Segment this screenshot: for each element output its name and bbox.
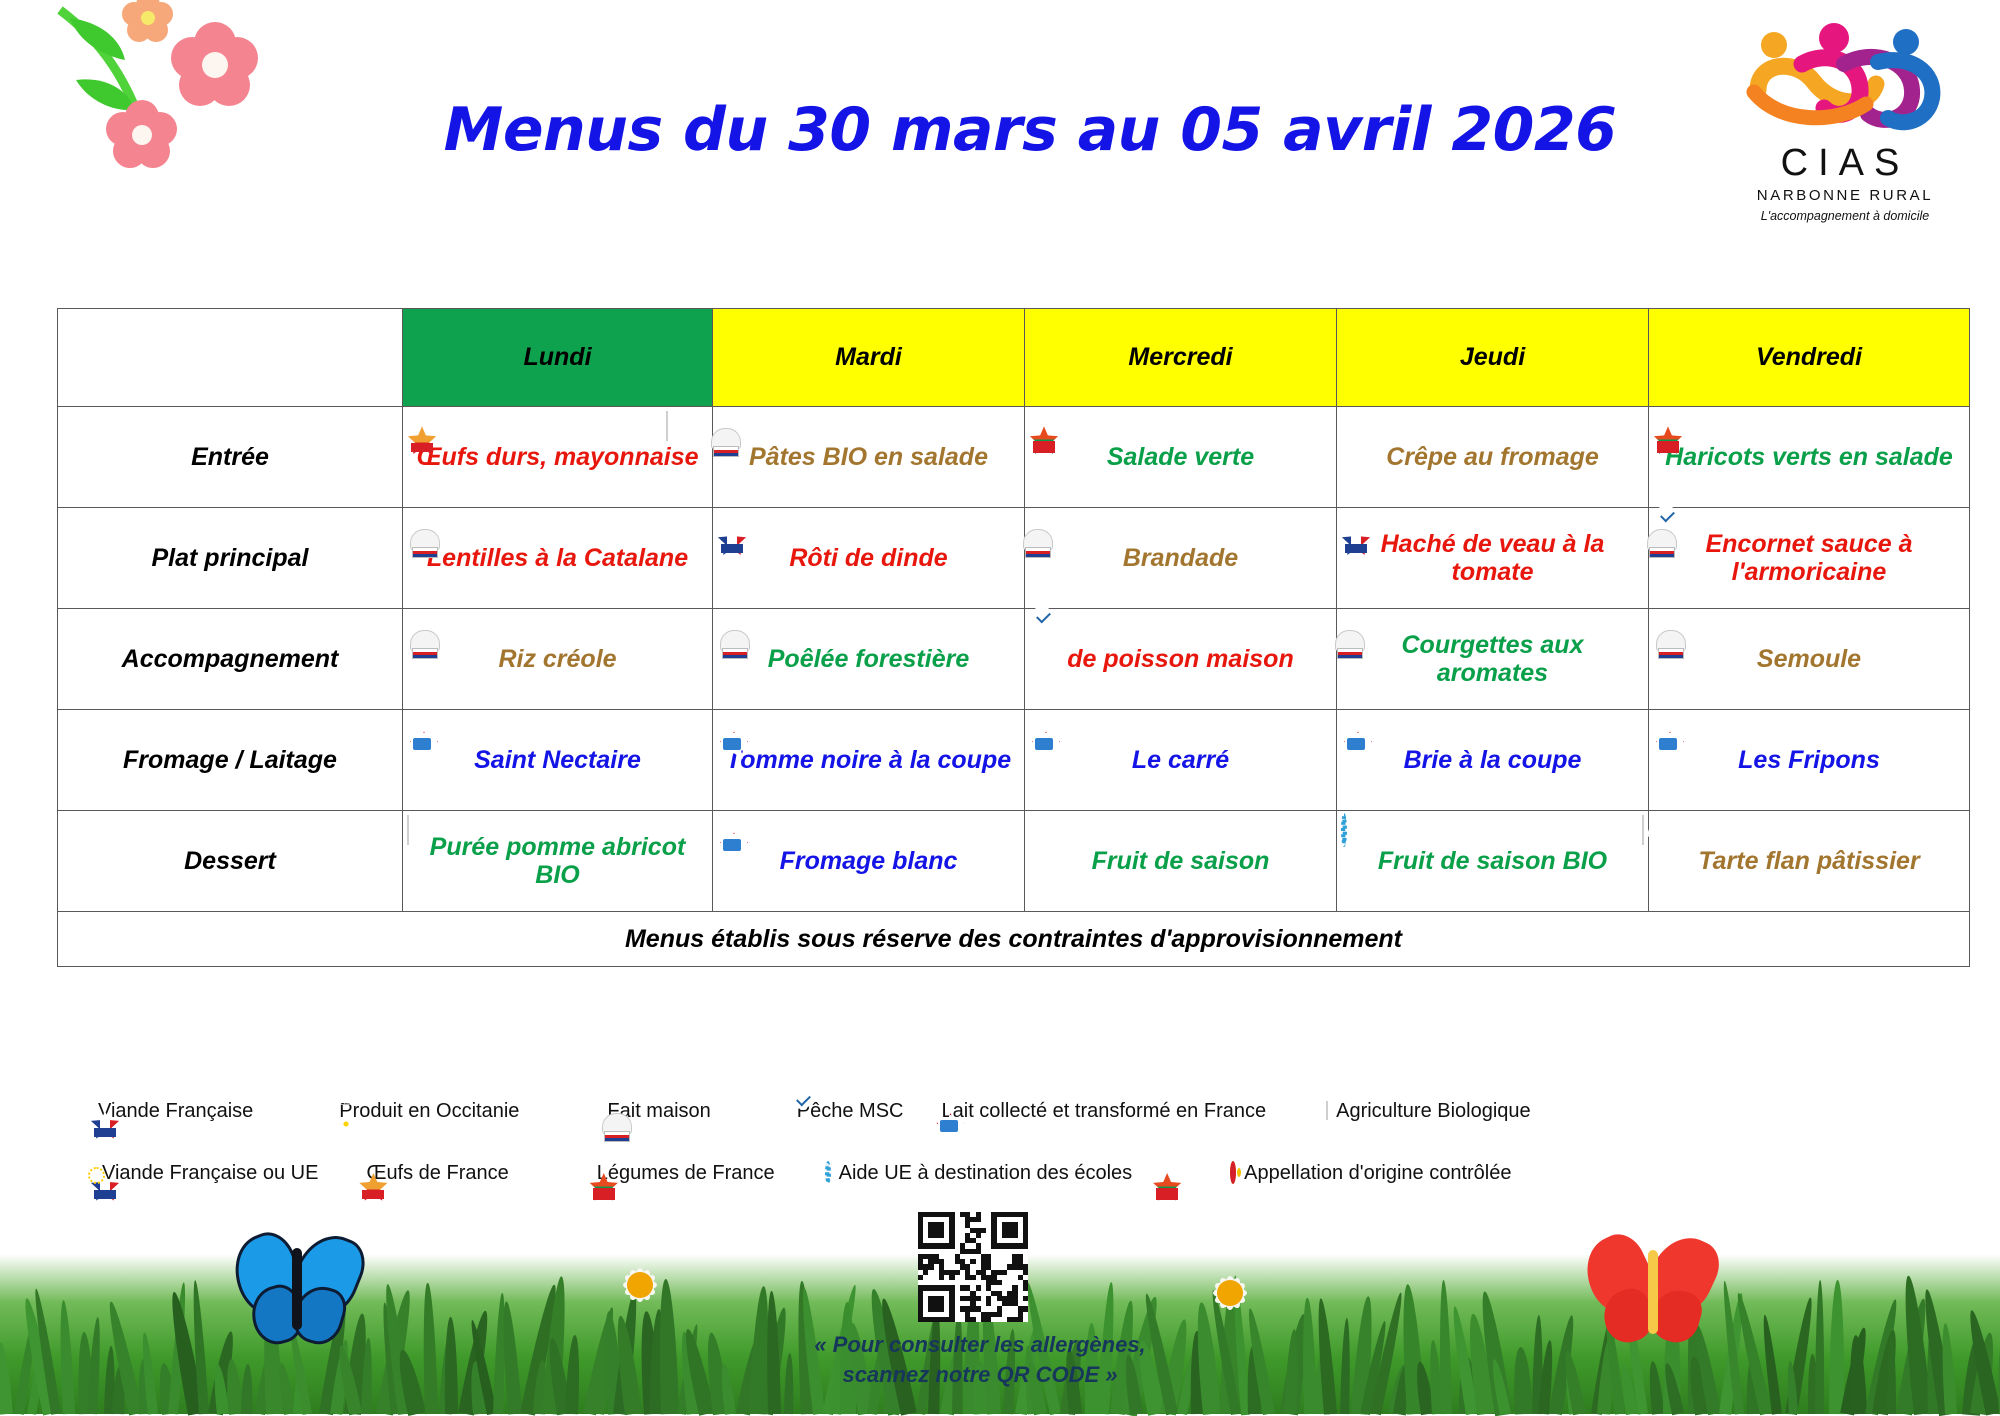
column-header-jeudi: Jeudi bbox=[1337, 309, 1649, 407]
legend-item-label: Produit en Occitanie bbox=[339, 1100, 519, 1123]
menu-cell: Haricots verts en salade bbox=[1649, 407, 1970, 508]
grass-blade bbox=[421, 1283, 437, 1414]
menu-item-text: Fruit de saison BIO bbox=[1337, 847, 1648, 875]
menu-cell: Brandade bbox=[1025, 508, 1337, 609]
legend-item: ABAgriculture Biologique bbox=[1326, 1100, 1531, 1123]
menu-cell: Fruit de saison BIOAB bbox=[1337, 811, 1649, 912]
legend-item-label: Aide UE à destination des écoles bbox=[839, 1162, 1133, 1185]
menu-item-text: Pâtes BIO en salade bbox=[713, 443, 1024, 471]
menu-cell: Encornet sauce à l'armoricaine bbox=[1649, 508, 1970, 609]
legend-item: Viande Française ou UE bbox=[90, 1162, 318, 1185]
legend-item: OccitanieProduit en Occitanie bbox=[331, 1100, 519, 1123]
menu-item-text: Salade verte bbox=[1025, 443, 1336, 471]
grass-blade bbox=[1647, 1361, 1664, 1415]
grass-blade bbox=[241, 1364, 254, 1414]
table-row: DessertPurée pomme abricot BIOABFromage … bbox=[58, 811, 1970, 912]
menu-cell: Tarte flan pâtissier bbox=[1649, 811, 1970, 912]
appellation-origine-controlee-icon bbox=[1230, 1164, 1236, 1182]
legend-item-label: Lait collecté et transformé en France bbox=[942, 1100, 1267, 1123]
menu-cell: Saint Nectaire bbox=[403, 710, 713, 811]
table-corner-cell bbox=[58, 309, 403, 407]
butterfly-blue-icon bbox=[230, 1228, 370, 1348]
legend-item-label: Agriculture Biologique bbox=[1336, 1100, 1531, 1123]
aide-ue-ecoles-icon bbox=[1341, 816, 1347, 844]
menu-cell: Riz créole bbox=[403, 609, 713, 710]
grass-blade bbox=[1438, 1280, 1452, 1414]
table-row: AccompagnementRiz créolePoêlée forestièr… bbox=[58, 609, 1970, 710]
flowers-decoration bbox=[30, 0, 290, 230]
legend-item: Fait maison bbox=[599, 1100, 710, 1123]
page-header: Menus du 30 mars au 05 avril 2026 CIAS N… bbox=[0, 0, 2000, 250]
table-note-row: Menus établis sous réserve des contraint… bbox=[58, 912, 1970, 967]
menu-item-text: Fruit de saison bbox=[1025, 847, 1336, 875]
legend-item-label: Viande Française ou UE bbox=[102, 1162, 318, 1185]
legend-item-icons: AB bbox=[1326, 1102, 1328, 1120]
legend-row-2: Viande Française ou UEŒufs de FranceLégu… bbox=[90, 1142, 1950, 1204]
daisy-right-icon bbox=[1185, 1248, 1275, 1338]
grass-blade bbox=[1829, 1280, 1845, 1414]
legend-item-icons bbox=[825, 1164, 831, 1182]
grass-blade bbox=[444, 1317, 458, 1414]
column-header-vendredi: Vendredi bbox=[1649, 309, 1970, 407]
aide-ue-ecoles-icon-slot bbox=[1341, 815, 1347, 844]
legend-item: Viande Française bbox=[90, 1100, 253, 1123]
daisy-left-icon bbox=[595, 1240, 685, 1330]
menu-cell: Salade verte bbox=[1025, 407, 1337, 508]
grass-blade bbox=[1815, 1280, 1825, 1414]
table-row: Fromage / LaitageSaint NectaireTomme noi… bbox=[58, 710, 1970, 811]
cias-logo-mark bbox=[1740, 12, 1950, 142]
cias-logo-tagline: L'accompagnement à domicile bbox=[1740, 209, 1950, 223]
legend-item-label: Pêche MSC bbox=[797, 1100, 904, 1123]
menu-item-text: Tomme noire à la coupe bbox=[713, 746, 1024, 774]
menu-item-text: Le carré bbox=[1025, 746, 1336, 774]
agriculture-biologique-icon-slot: AB bbox=[666, 411, 668, 440]
agriculture-biologique-icon: AB bbox=[407, 816, 409, 844]
menu-item-text: Fromage blanc bbox=[713, 847, 1024, 875]
agriculture-biologique-icon-slot: AB bbox=[407, 815, 409, 844]
menu-cell: Courgettes aux aromates bbox=[1337, 609, 1649, 710]
menu-item-text: Riz créole bbox=[403, 645, 712, 673]
menu-item-text: Tarte flan pâtissier bbox=[1649, 847, 1969, 875]
cias-logo: CIAS NARBONNE RURAL L'accompagnement à d… bbox=[1740, 12, 1950, 234]
legend-item-label: Légumes de France bbox=[597, 1162, 775, 1185]
menu-item-text: Lentilles à la Catalane bbox=[403, 544, 712, 572]
menu-item-text: Encornet sauce à l'armoricaine bbox=[1649, 530, 1969, 586]
menu-item-text: Purée pomme abricot BIO bbox=[403, 833, 712, 889]
menu-item-text: Haché de veau à la tomate bbox=[1337, 530, 1648, 586]
legend-item: Pêche MSC bbox=[789, 1100, 904, 1123]
legend-item: Lait collecté et transformé en France bbox=[934, 1100, 1267, 1123]
menu-item-text: Poêlée forestière bbox=[713, 645, 1024, 673]
row-label: Accompagnement bbox=[58, 609, 403, 710]
cias-logo-subtitle: NARBONNE RURAL bbox=[1740, 187, 1950, 204]
menu-cell: Poêlée forestière bbox=[713, 609, 1025, 710]
grass-blade bbox=[565, 1335, 581, 1415]
legend-item: Œufs de France bbox=[358, 1162, 508, 1185]
legend: Viande FrançaiseOccitanieProduit en Occi… bbox=[90, 1080, 1950, 1204]
table-row: Plat principalLentilles à la CatalaneRôt… bbox=[58, 508, 1970, 609]
agriculture-biologique-icon: AB bbox=[666, 412, 668, 440]
butterfly-red-icon bbox=[1580, 1228, 1730, 1353]
menu-item-text: Les Fripons bbox=[1649, 746, 1969, 774]
legend-item-label: Appellation d'origine contrôlée bbox=[1244, 1162, 1511, 1185]
grass-blade bbox=[0, 1341, 14, 1414]
column-header-lundi: Lundi bbox=[403, 309, 713, 407]
menu-cell: Brie à la coupe bbox=[1337, 710, 1649, 811]
row-label: Fromage / Laitage bbox=[58, 710, 403, 811]
menu-cell: Les Fripons bbox=[1649, 710, 1970, 811]
row-label: Entrée bbox=[58, 407, 403, 508]
menu-cell: Fruit de saison bbox=[1025, 811, 1337, 912]
menu-cell: de poisson maison bbox=[1025, 609, 1337, 710]
row-label: Plat principal bbox=[58, 508, 403, 609]
cias-logo-name: CIAS bbox=[1740, 144, 1950, 182]
menu-cell: Crêpe au fromage bbox=[1337, 407, 1649, 508]
column-header-mardi: Mardi bbox=[713, 309, 1025, 407]
menu-cell: Haché de veau à la tomate bbox=[1337, 508, 1649, 609]
menu-item-text: Courgettes aux aromates bbox=[1337, 631, 1648, 687]
menu-cell: Œufs durs, mayonnaiseAB bbox=[403, 407, 713, 508]
agriculture-biologique-icon-slot: AB bbox=[1642, 815, 1644, 844]
menu-cell: Lentilles à la Catalane bbox=[403, 508, 713, 609]
menu-item-text: Rôti de dinde bbox=[713, 544, 1024, 572]
legend-item: Appellation d'origine contrôlée bbox=[1230, 1162, 1511, 1185]
menu-item-text: de poisson maison bbox=[1025, 645, 1336, 673]
table-row: EntréeŒufs durs, mayonnaiseABPâtes BIO e… bbox=[58, 407, 1970, 508]
page-title: Menus du 30 mars au 05 avril 2026 bbox=[380, 95, 1680, 165]
table-header-row: LundiMardiMercrediJeudiVendredi bbox=[58, 309, 1970, 407]
qr-caption: « Pour consulter les allergènes, scannez… bbox=[700, 1330, 1260, 1389]
menu-item-text: Saint Nectaire bbox=[403, 746, 712, 774]
menu-table: LundiMardiMercrediJeudiVendrediEntréeŒuf… bbox=[57, 308, 1970, 967]
legend-item-label: Viande Française bbox=[98, 1100, 253, 1123]
grass-blade bbox=[1512, 1346, 1533, 1414]
menu-item-text: Crêpe au fromage bbox=[1337, 443, 1648, 471]
menu-item-text: Brie à la coupe bbox=[1337, 746, 1648, 774]
qr-caption-line2: scannez notre QR CODE » bbox=[700, 1360, 1260, 1390]
menu-item-text: Haricots verts en salade bbox=[1649, 443, 1969, 471]
menu-cell: Le carré bbox=[1025, 710, 1337, 811]
table-note: Menus établis sous réserve des contraint… bbox=[58, 912, 1970, 967]
agriculture-biologique-icon: AB bbox=[1326, 1102, 1328, 1120]
legend-item-label: Œufs de France bbox=[366, 1162, 508, 1185]
menu-cell: Fromage blanc bbox=[713, 811, 1025, 912]
row-label: Dessert bbox=[58, 811, 403, 912]
menu-item-text: Œufs durs, mayonnaise bbox=[403, 443, 712, 471]
menu-cell: Tomme noire à la coupe bbox=[713, 710, 1025, 811]
menu-cell: Pâtes BIO en salade bbox=[713, 407, 1025, 508]
grass-blade bbox=[1340, 1318, 1352, 1415]
qr-code[interactable] bbox=[918, 1212, 1028, 1322]
menu-item-text: Semoule bbox=[1649, 645, 1969, 673]
qr-caption-line1: « Pour consulter les allergènes, bbox=[700, 1330, 1260, 1360]
agriculture-biologique-icon: AB bbox=[1642, 816, 1644, 844]
grass-blade bbox=[58, 1300, 76, 1414]
legend-item: Aide UE à destination des écoles bbox=[825, 1162, 1133, 1185]
legend-item: Légumes de France bbox=[589, 1162, 775, 1185]
legend-item-icons bbox=[1230, 1164, 1236, 1182]
menu-item-text: Brandade bbox=[1025, 544, 1336, 572]
menu-cell: Purée pomme abricot BIOAB bbox=[403, 811, 713, 912]
column-header-mercredi: Mercredi bbox=[1025, 309, 1337, 407]
legend-row-1: Viande FrançaiseOccitanieProduit en Occi… bbox=[90, 1080, 1950, 1142]
aide-ue-ecoles-icon bbox=[825, 1164, 831, 1182]
menu-cell: Semoule bbox=[1649, 609, 1970, 710]
menu-cell: Rôti de dinde bbox=[713, 508, 1025, 609]
